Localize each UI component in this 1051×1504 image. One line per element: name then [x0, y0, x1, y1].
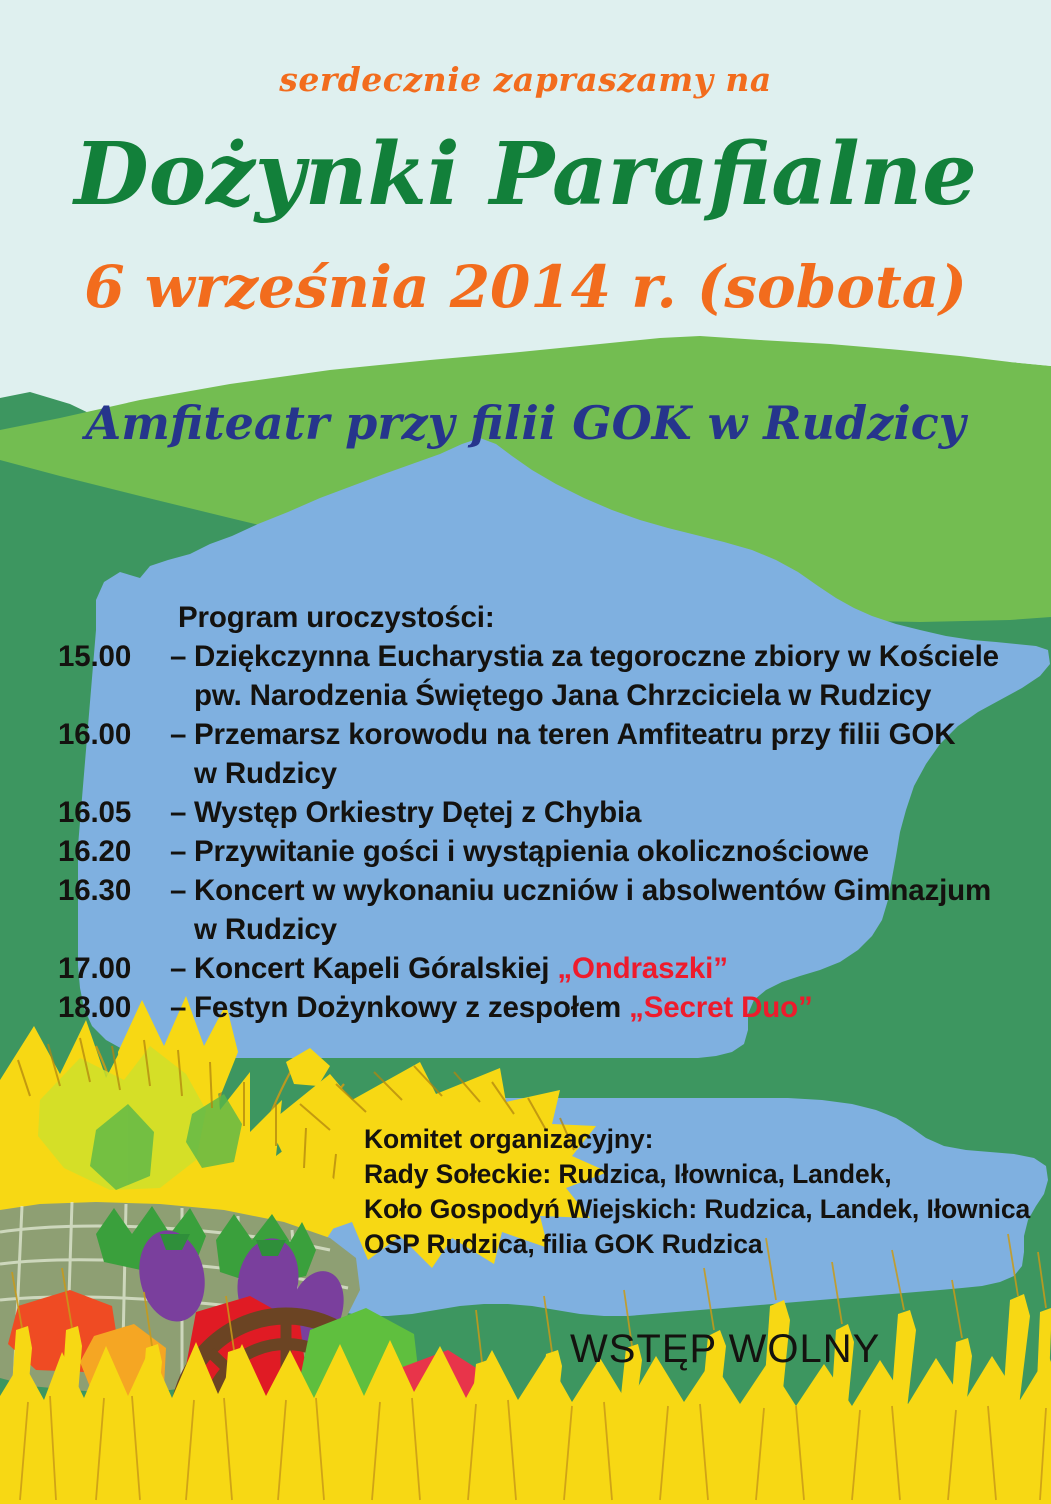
- program-time: 16.05: [58, 793, 170, 832]
- program-desc: Przemarsz korowodu na teren Amfiteatru p…: [194, 715, 1051, 754]
- program-row: 16.00 – Przemarsz korowodu na teren Amfi…: [0, 715, 1051, 754]
- program-row: 18.00 – Festyn Dożynkowy z zespołem „Sec…: [0, 988, 1051, 1027]
- program-continuation: pw. Narodzenia Świętego Jana Chrzciciela…: [0, 676, 1051, 715]
- program-desc: Przywitanie gości i wystąpienia okoliczn…: [194, 832, 1051, 871]
- program-heading: Program uroczystości:: [0, 598, 1051, 637]
- event-venue: Amfiteatr przy filii GOK w Rudzicy: [0, 400, 1051, 446]
- program-dash: –: [170, 793, 194, 832]
- program-desc: Koncert Kapeli Góralskiej: [194, 952, 557, 985]
- program-continuation: w Rudzicy: [0, 910, 1051, 949]
- poster-canvas: serdecznie zapraszamy na Dożynki Parafia…: [0, 0, 1051, 1504]
- program-continuation: w Rudzicy: [0, 754, 1051, 793]
- program-performer: „Secret Duo”: [629, 991, 812, 1024]
- program-time: 15.00: [58, 637, 170, 676]
- program-row: 17.00 – Koncert Kapeli Góralskiej „Ondra…: [0, 949, 1051, 988]
- program-list: Program uroczystości: 15.00 – Dziękczynn…: [0, 598, 1051, 1027]
- program-desc: Koncert w wykonaniu uczniów i absolwentó…: [194, 871, 1051, 910]
- program-dash: –: [170, 949, 194, 988]
- program-time: 17.00: [58, 949, 170, 988]
- committee-line: OSP Rudzica, filia GOK Rudzica: [364, 1227, 1044, 1262]
- program-dash: –: [170, 871, 194, 910]
- free-entry-notice: WSTĘP WOLNY: [570, 1327, 880, 1372]
- program-time: 16.00: [58, 715, 170, 754]
- program-time: 18.00: [58, 988, 170, 1027]
- organizing-committee: Komitet organizacyjny: Rady Sołeckie: Ru…: [364, 1122, 1044, 1262]
- committee-heading: Komitet organizacyjny:: [364, 1122, 1044, 1157]
- committee-line: Koło Gospodyń Wiejskich: Rudzica, Landek…: [364, 1192, 1044, 1227]
- program-row: 15.00 – Dziękczynna Eucharystia za tegor…: [0, 637, 1051, 676]
- program-dash: –: [170, 988, 194, 1027]
- program-time: 16.30: [58, 871, 170, 910]
- program-performer: „Ondraszki”: [557, 952, 727, 985]
- program-row: 16.20 – Przywitanie gości i wystąpienia …: [0, 832, 1051, 871]
- program-dash: –: [170, 715, 194, 754]
- program-row: 16.30 – Koncert w wykonaniu uczniów i ab…: [0, 871, 1051, 910]
- event-date: 6 września 2014 r. (sobota): [0, 258, 1051, 316]
- program-dash: –: [170, 832, 194, 871]
- program-desc: Festyn Dożynkowy z zespołem: [194, 991, 629, 1024]
- program-row: 16.05 – Występ Orkiestry Dętej z Chybia: [0, 793, 1051, 832]
- program-dash: –: [170, 637, 194, 676]
- page-title: Dożynki Parafialne: [0, 132, 1051, 218]
- committee-line: Rady Sołeckie: Rudzica, Iłownica, Landek…: [364, 1157, 1044, 1192]
- program-desc: Dziękczynna Eucharystia za tegoroczne zb…: [194, 637, 1051, 676]
- program-time: 16.20: [58, 832, 170, 871]
- invitation-kicker: serdecznie zapraszamy na: [0, 60, 1051, 99]
- program-desc: Występ Orkiestry Dętej z Chybia: [194, 793, 1051, 832]
